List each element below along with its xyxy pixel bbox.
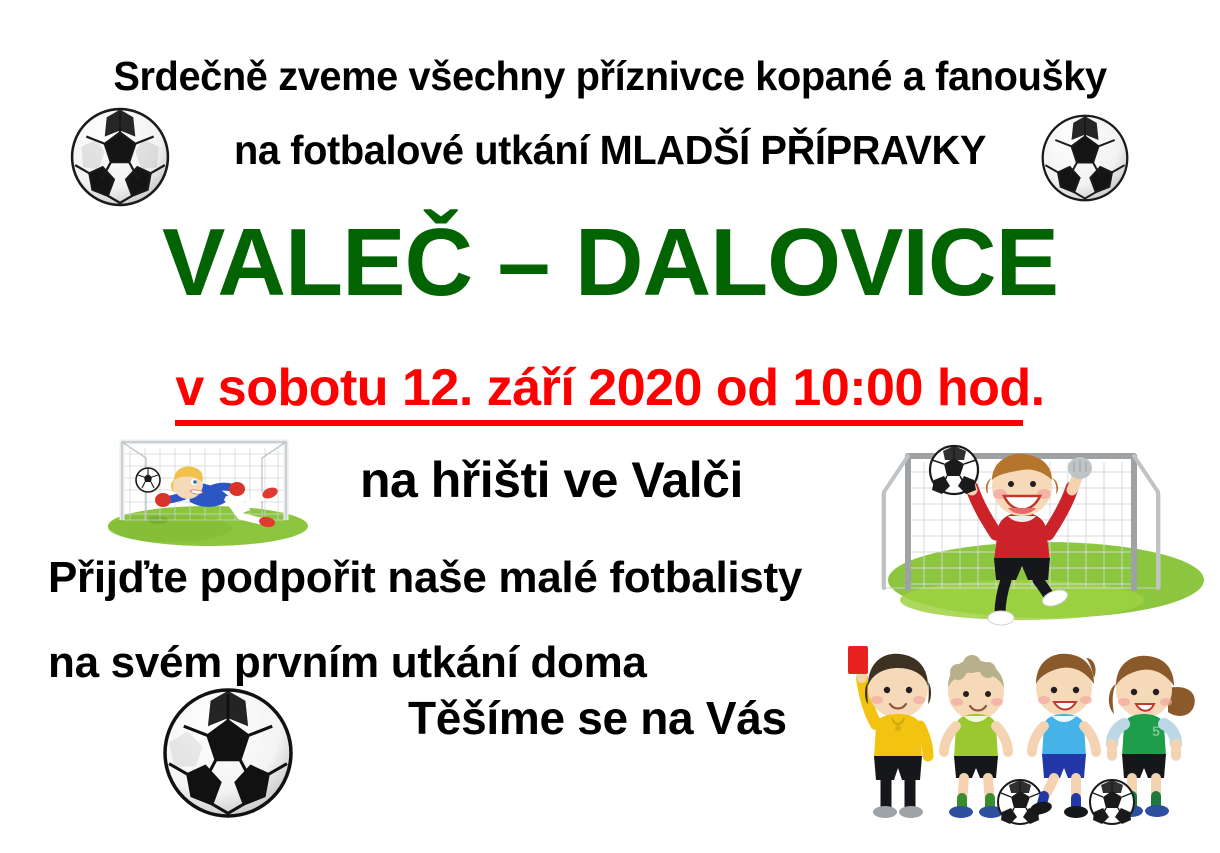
invitation-line-2: na fotbalové utkání MLADŠÍ PŘÍPRAVKY <box>18 130 1201 171</box>
poster-canvas: Srdečně zveme všechny příznivce kopané a… <box>0 0 1220 853</box>
match-datetime: v sobotu 12. září 2020 od 10:00 hod. <box>175 362 1044 426</box>
player-kid-lime <box>944 655 1042 824</box>
date-line-container: v sobotu 12. září 2020 od 10:00 hod. <box>0 362 1220 426</box>
venue-line: na hřišti ve Valči <box>360 455 743 505</box>
player-girl-green: 5 <box>1090 656 1195 824</box>
referee-kid <box>848 646 931 818</box>
soccer-ball-icon <box>1040 108 1130 208</box>
soccer-ball-icon <box>68 106 172 208</box>
invitation-line-1: Srdečně zveme všechny příznivce kopané a… <box>18 56 1201 97</box>
kid-footballers-illustration: 5 <box>824 626 1220 838</box>
soccer-ball-icon <box>160 686 296 820</box>
jumping-goalkeeper-illustration <box>872 438 1220 628</box>
match-title: VALEČ – DALOVICE <box>6 215 1214 311</box>
diving-goalkeeper-illustration <box>100 428 316 548</box>
svg-text:5: 5 <box>1152 723 1160 739</box>
body-line-1: Přijďte podpořit naše malé fotbalisty <box>48 556 802 600</box>
body-line-2: na svém prvním utkání doma <box>48 641 647 685</box>
body-line-3: Těšíme se na Vás <box>408 695 787 741</box>
